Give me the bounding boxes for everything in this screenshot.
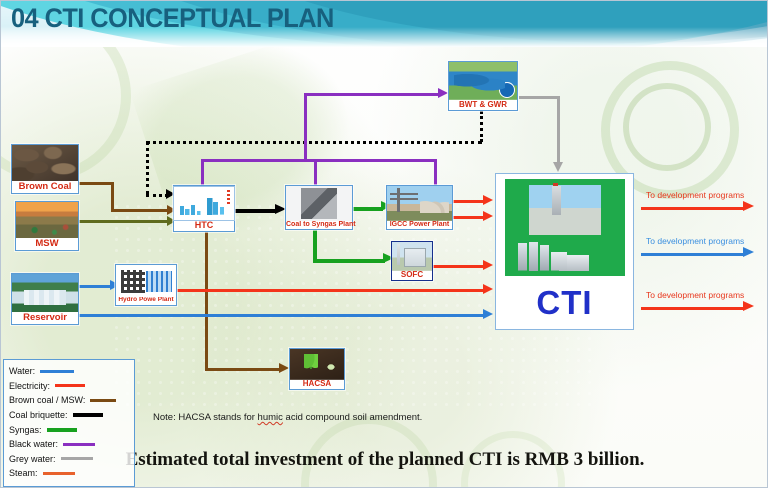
- node-label-hydro: Hydro Powe Plant: [116, 297, 176, 305]
- storage-tanks-photo: [515, 239, 615, 271]
- node-msw[interactable]: MSW: [15, 201, 79, 251]
- legend-item: Coal briquette:: [9, 408, 134, 423]
- connector-output-electricity-1: [641, 207, 745, 210]
- output-label-3: To development programs: [646, 290, 744, 300]
- connector-output-electricity-2: [641, 307, 745, 310]
- legend-swatch-water: [40, 370, 74, 373]
- connector-hacsa-down: [205, 232, 208, 369]
- connector-steam-down-to-htc: [146, 141, 149, 195]
- note-underlined-word: humic: [258, 412, 283, 423]
- node-hacsa[interactable]: HACSA: [289, 348, 345, 390]
- legend-label: Brown coal / MSW:: [9, 395, 85, 405]
- node-label-hacsa: HACSA: [290, 380, 344, 389]
- arrowhead-output-1: [743, 201, 754, 211]
- legend-swatch-grey-water: [61, 457, 93, 460]
- node-label-igcc: IGCC Power Plant: [387, 221, 452, 229]
- legend-item: Water:: [9, 364, 134, 379]
- legend-label: Steam:: [9, 468, 38, 478]
- connector-steam-riser-to-bwt: [480, 111, 483, 142]
- output-label-1: To development programs: [646, 190, 744, 200]
- page-title: 04 CTI CONCEPTUAL PLAN: [11, 3, 334, 34]
- node-label-brown-coal: Brown Coal: [12, 181, 78, 193]
- node-label-htc: HTC: [174, 221, 234, 231]
- slide-canvas: 04 CTI CONCEPTUAL PLAN: [0, 0, 768, 488]
- node-label-coal-to-syngas: Coal to Syngas Plant: [286, 221, 352, 229]
- legend-label: Electricity:: [9, 381, 50, 391]
- node-htc[interactable]: HTC: [173, 185, 235, 232]
- connector-igcc-electricity-2: [453, 216, 485, 219]
- node-brown-coal[interactable]: Brown Coal: [11, 144, 79, 194]
- connector-steam-into-htc: [146, 194, 168, 197]
- connector-brown-coal-to-htc: [79, 182, 113, 185]
- legend-label: Black water:: [9, 439, 58, 449]
- node-label-msw: MSW: [16, 238, 78, 250]
- node-igcc[interactable]: IGCC Power Plant: [386, 185, 453, 230]
- legend-swatch-steam: [43, 472, 75, 475]
- arrowhead-blackwater-bwt: [438, 88, 448, 98]
- node-reservoir[interactable]: Reservoir: [11, 273, 79, 325]
- legend-item: Electricity:: [9, 379, 134, 394]
- arrowhead-hacsa: [279, 363, 289, 373]
- node-hydro-power-plant[interactable]: Hydro Powe Plant: [115, 264, 177, 306]
- connector-blackwater-htc-riser: [201, 159, 204, 185]
- connector-reservoir-water-to-cti: [79, 314, 485, 317]
- legend-swatch-brown-coal: [90, 399, 116, 402]
- connector-blackwater-main-riser: [304, 93, 307, 160]
- legend-swatch-syngas: [47, 428, 77, 432]
- connector-steam-bus: [146, 141, 482, 144]
- connector-msw-to-htc: [79, 220, 169, 223]
- legend-item: Brown coal / MSW:: [9, 393, 134, 408]
- legend-label: Grey water:: [9, 454, 56, 464]
- note-prefix: Note: HACSA stands for: [153, 412, 258, 423]
- connector-igcc-electricity-1: [453, 200, 485, 203]
- connector-hydro-electricity-to-cti: [177, 289, 485, 292]
- note-suffix: acid compound soil amendment.: [283, 412, 422, 423]
- arrowhead-igcc-e1: [483, 195, 493, 205]
- legend-item: Syngas:: [9, 422, 134, 437]
- legend-label: Coal briquette:: [9, 410, 68, 420]
- coal-pile-photo: [12, 145, 78, 181]
- legend-item: Steam:: [9, 466, 134, 481]
- background-ring: [623, 83, 711, 171]
- legend-item: Grey water:: [9, 452, 134, 467]
- fuel-cell-building-photo: [392, 242, 432, 271]
- node-coal-to-syngas[interactable]: Coal to Syngas Plant: [285, 185, 353, 230]
- connector-hacsa-right: [205, 368, 281, 371]
- arrowhead-sofc-e: [483, 260, 493, 270]
- node-label-sofc: SOFC: [392, 271, 432, 280]
- htc-chart-photo: [173, 186, 235, 221]
- legend-label: Water:: [9, 366, 35, 376]
- legend-swatch-electricity: [55, 384, 85, 387]
- node-cti[interactable]: CTI: [495, 173, 634, 330]
- connector-syngas-sofc-right: [313, 259, 385, 263]
- legend-item: Black water:: [9, 437, 134, 452]
- seedling-soil-photo: [290, 349, 344, 380]
- connector-greywater-down: [557, 96, 560, 164]
- node-label-reservoir: Reservoir: [12, 312, 78, 324]
- power-plant-photo: [387, 186, 452, 221]
- node-sofc[interactable]: SOFC: [391, 241, 433, 281]
- connector-output-water: [641, 253, 745, 256]
- arrowhead-greywater-cti: [553, 162, 563, 172]
- node-label-bwt-gwr: BWT & GWR: [449, 100, 517, 110]
- cti-green-panel: [505, 179, 625, 276]
- recycle-badge-icon: [499, 82, 515, 98]
- gasifier-photo: [286, 186, 352, 221]
- node-bwt-gwr[interactable]: BWT & GWR: [448, 61, 518, 111]
- arrowhead-output-3: [743, 301, 754, 311]
- connector-blackwater-bus: [201, 159, 436, 162]
- connector-reservoir-to-hydro: [79, 285, 112, 288]
- industrial-plant-photo: [529, 185, 601, 235]
- connector-blackwater-igcc-riser: [434, 159, 437, 185]
- connector-greywater-out: [519, 96, 559, 99]
- arrowhead-reservoir-cti: [483, 309, 493, 319]
- connector-syngas-to-igcc: [353, 207, 383, 211]
- connector-syngas-sofc-down: [313, 230, 317, 262]
- hacsa-note: Note: HACSA stands for humic acid compou…: [153, 412, 422, 423]
- hydro-plant-photo: [116, 265, 176, 297]
- legend-label: Syngas:: [9, 425, 42, 435]
- connector-blackwater-syngas-riser: [314, 159, 317, 185]
- connector-briquette-htc-to-syngas: [235, 209, 277, 213]
- landfill-photo: [16, 202, 78, 238]
- legend-swatch-coal-briquette: [73, 413, 103, 417]
- arrowhead-hydro-cti: [483, 284, 493, 294]
- arrowhead-igcc-e2: [483, 211, 493, 221]
- connector-brown-coal-to-htc-2: [111, 209, 169, 212]
- node-label-cti: CTI: [536, 286, 592, 319]
- legend-panel: Water: Electricity: Brown coal / MSW: Co…: [3, 359, 135, 487]
- dam-reservoir-photo: [12, 274, 78, 312]
- connector-brown-coal-riser: [111, 182, 114, 210]
- connector-blackwater-to-bwt: [304, 93, 440, 96]
- legend-swatch-black-water: [63, 443, 95, 446]
- connector-sofc-electricity: [433, 265, 485, 268]
- water-treatment-photo: [449, 62, 517, 100]
- arrowhead-output-2: [743, 247, 754, 257]
- output-label-2: To development programs: [646, 236, 744, 246]
